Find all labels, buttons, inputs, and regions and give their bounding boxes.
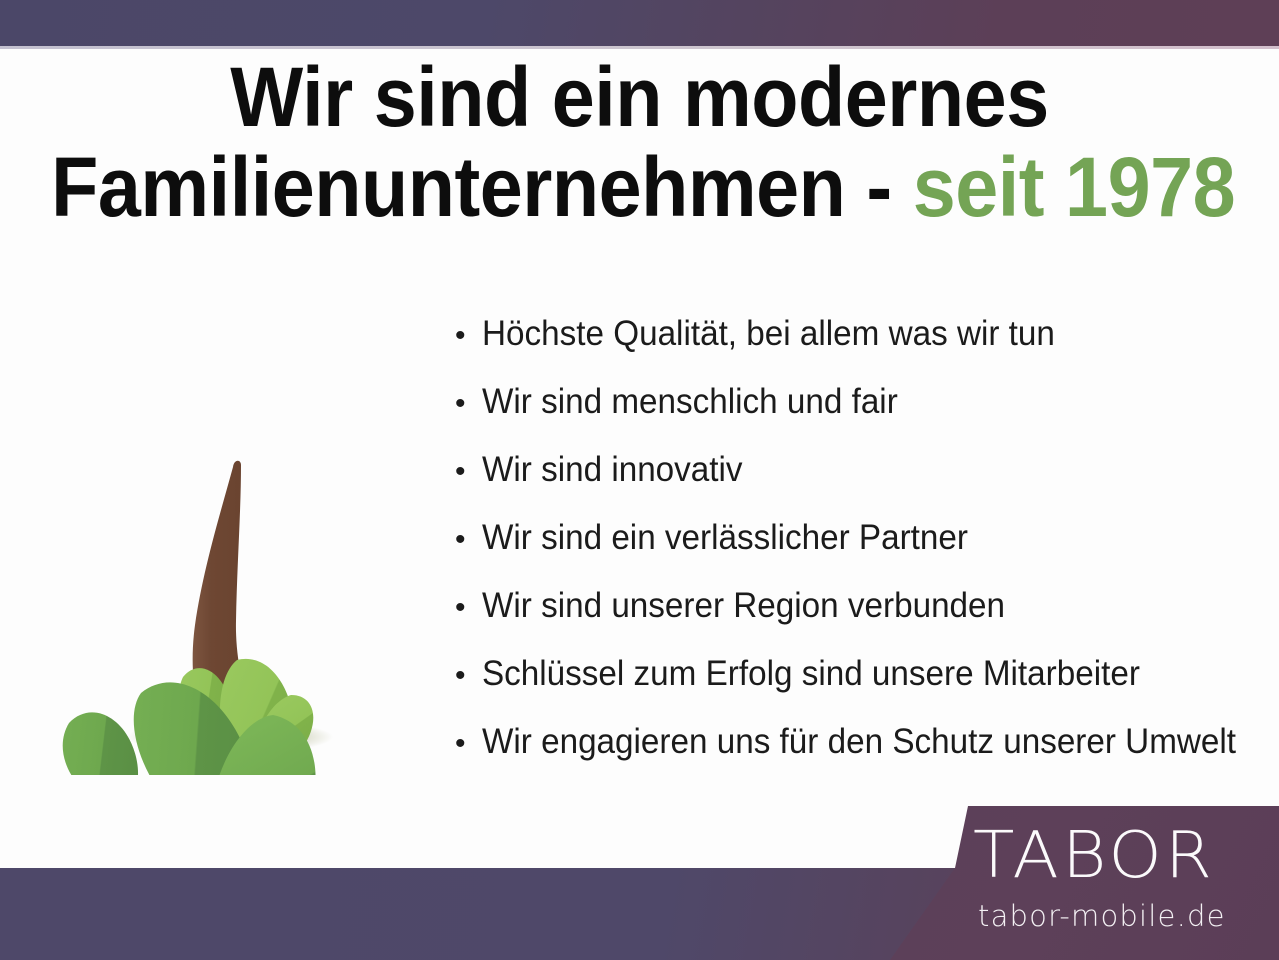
bullet-marker-icon: •: [455, 302, 482, 370]
list-item-label: Schlüssel zum Erfolg sind unsere Mitarbe…: [482, 640, 1140, 708]
bullet-marker-icon: •: [455, 710, 482, 778]
list-item-label: Höchste Qualität, bei allem was wir tun: [482, 300, 1055, 368]
value-bullet-list: • Höchste Qualität, bei allem was wir tu…: [455, 300, 1265, 776]
tree-illustration: [25, 325, 445, 775]
list-item: • Wir sind menschlich und fair: [455, 368, 1265, 436]
list-item-label: Wir sind unserer Region verbunden: [482, 572, 1005, 640]
list-item: • Wir sind unserer Region verbunden: [455, 572, 1265, 640]
bullet-marker-icon: •: [455, 642, 482, 710]
top-accent-bar: [0, 0, 1279, 46]
list-item: • Höchste Qualität, bei allem was wir tu…: [455, 300, 1265, 368]
list-item: • Wir sind innovativ: [455, 436, 1265, 504]
page-title-line-1: Wir sind ein modernes: [51, 52, 1228, 142]
page-title-accent: seit 1978: [913, 140, 1235, 234]
brand-wordmark: TABOR: [973, 824, 1215, 888]
top-accent-bar-hairline: [0, 46, 1279, 49]
list-item: • Wir engagieren uns für den Schutz unse…: [455, 708, 1265, 776]
bullet-marker-icon: •: [455, 506, 482, 574]
bullet-marker-icon: •: [455, 438, 482, 506]
list-item-label: Wir engagieren uns für den Schutz unsere…: [482, 708, 1236, 776]
list-item-label: Wir sind ein verlässlicher Partner: [482, 504, 968, 572]
list-item-label: Wir sind innovativ: [482, 436, 743, 504]
page-title: Wir sind ein modernes Familienunternehme…: [51, 52, 1228, 232]
slide-root: Wir sind ein modernes Familienunternehme…: [0, 0, 1279, 960]
bullet-marker-icon: •: [455, 370, 482, 438]
list-item-label: Wir sind menschlich und fair: [482, 368, 898, 436]
list-item: • Wir sind ein verlässlicher Partner: [455, 504, 1265, 572]
page-title-line-2: Familienunternehmen - seit 1978: [51, 142, 1228, 232]
brand-website-url: tabor-mobile.de: [978, 900, 1226, 932]
tree-leaf-mid-far-right: [300, 765, 404, 775]
page-title-line-2-main: Familienunternehmen -: [51, 140, 913, 234]
bullet-marker-icon: •: [455, 574, 482, 642]
brand-logo-panel[interactable]: TABOR tabor-mobile.de: [890, 806, 1279, 960]
list-item: • Schlüssel zum Erfolg sind unsere Mitar…: [455, 640, 1265, 708]
